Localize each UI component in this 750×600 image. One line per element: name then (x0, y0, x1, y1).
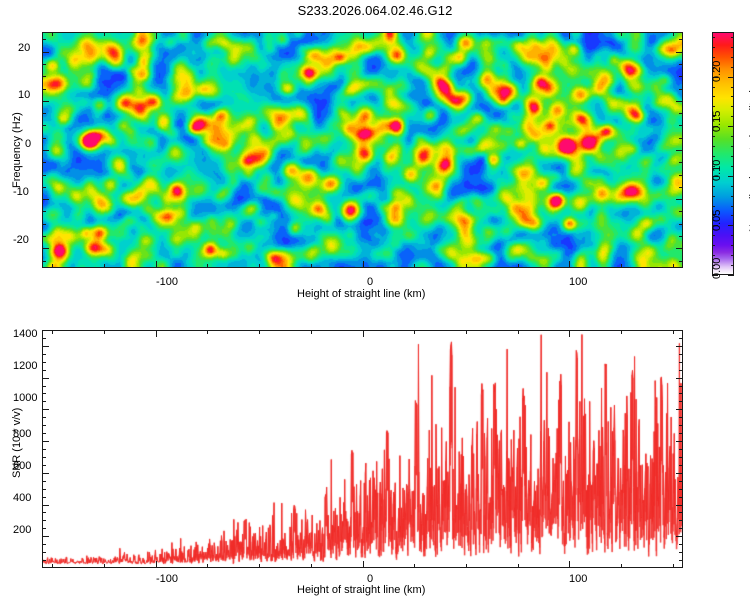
axis-tick (673, 264, 674, 268)
axis-tick (156, 32, 157, 39)
axis-tick (104, 330, 105, 334)
axis-tick (42, 489, 46, 490)
axis-tick (259, 264, 260, 268)
axis-tick (676, 346, 683, 347)
colorbar-tick-010: 0.10 (711, 160, 723, 181)
axis-tick (466, 264, 467, 268)
axis-tick (42, 187, 46, 188)
axis-tick (42, 362, 46, 363)
axis-tick (679, 125, 683, 126)
axis-tick (259, 564, 260, 568)
axis-tick (569, 330, 570, 337)
axis-tick (676, 536, 683, 537)
axis-tick (518, 264, 519, 268)
axis-tick (42, 401, 46, 402)
axis-tick (731, 96, 734, 97)
axis-tick (679, 489, 683, 490)
axis-tick (42, 417, 46, 418)
axis-tick (311, 264, 312, 268)
axis-tick (673, 32, 674, 36)
axis-tick (676, 52, 683, 53)
axis-tick (679, 39, 683, 40)
axis-tick (621, 330, 622, 334)
axis-tick (679, 393, 683, 394)
axis-tick (728, 225, 734, 226)
axis-tick (679, 544, 683, 545)
axis-tick (679, 433, 683, 434)
axis-tick (42, 39, 46, 40)
axis-tick (42, 236, 46, 237)
axis-tick (104, 564, 105, 568)
axis-tick (156, 330, 157, 337)
axis-tick (731, 47, 734, 48)
spectrogram-ytick-20: 20 (18, 42, 30, 54)
snr-xtick-neg100: -100 (156, 573, 178, 585)
axis-tick (42, 89, 46, 90)
axis-tick (731, 255, 734, 256)
axis-tick (676, 505, 683, 506)
axis-tick (731, 156, 734, 157)
axis-tick (712, 47, 715, 48)
axis-tick (42, 338, 46, 339)
axis-tick (518, 564, 519, 568)
axis-tick (679, 354, 683, 355)
axis-tick (42, 552, 46, 553)
axis-tick (679, 528, 683, 529)
axis-tick (518, 32, 519, 36)
axis-tick (731, 37, 734, 38)
axis-tick (259, 32, 260, 36)
snr-ytick-400: 400 (13, 492, 31, 504)
axis-tick (414, 32, 415, 36)
axis-tick (731, 265, 734, 266)
colorbar-tick-020: 0.20 (711, 61, 723, 82)
snr-ytick-200: 200 (13, 524, 31, 536)
axis-tick (731, 146, 734, 147)
axis-tick (42, 481, 46, 482)
axis-tick (712, 57, 715, 58)
axis-tick (42, 560, 46, 561)
axis-tick (712, 156, 715, 157)
axis-tick (363, 32, 364, 39)
axis-tick (679, 552, 683, 553)
snr-ytick-1000: 1000 (13, 392, 37, 404)
axis-tick (679, 224, 683, 225)
axis-tick (42, 346, 49, 347)
spectrogram-xtick-100: 100 (569, 276, 587, 288)
axis-tick (42, 512, 46, 513)
spectrogram-ytick-10: 10 (18, 89, 30, 101)
axis-tick (42, 76, 46, 77)
axis-tick (679, 187, 683, 188)
axis-tick (731, 166, 734, 167)
axis-tick (712, 245, 715, 246)
axis-tick (679, 89, 683, 90)
axis-tick (42, 505, 49, 506)
axis-tick (712, 106, 715, 107)
axis-tick (679, 261, 683, 262)
page-title: S233.2026.064.02.46.G12 (0, 3, 750, 18)
axis-tick (207, 264, 208, 268)
colorbar-tick-005: 0.05 (711, 210, 723, 231)
axis-tick (42, 528, 46, 529)
axis-tick (731, 215, 734, 216)
axis-tick (42, 113, 46, 114)
axis-tick (679, 162, 683, 163)
spectrogram-xtick-neg100: -100 (156, 276, 178, 288)
axis-tick (311, 564, 312, 568)
axis-tick (712, 87, 715, 88)
axis-tick (42, 261, 46, 262)
axis-tick (207, 564, 208, 568)
axis-tick (728, 77, 734, 78)
axis-tick (42, 64, 46, 65)
axis-tick (679, 449, 683, 450)
axis-tick (42, 248, 49, 249)
axis-tick (679, 175, 683, 176)
axis-tick (679, 425, 683, 426)
axis-tick (712, 146, 715, 147)
axis-tick (679, 236, 683, 237)
snr-plot-area (42, 330, 683, 568)
axis-tick (621, 32, 622, 36)
axis-tick (363, 261, 364, 268)
axis-tick (42, 386, 46, 387)
axis-tick (52, 264, 53, 268)
axis-tick (52, 330, 53, 334)
axis-tick (621, 564, 622, 568)
axis-tick (731, 136, 734, 137)
axis-tick (42, 520, 46, 521)
snr-xtick-100: 100 (569, 573, 587, 585)
axis-tick (156, 561, 157, 568)
axis-tick (42, 544, 46, 545)
axis-tick (569, 32, 570, 39)
axis-tick (42, 378, 49, 379)
axis-tick (104, 264, 105, 268)
axis-tick (42, 52, 49, 53)
axis-tick (42, 162, 46, 163)
axis-tick (679, 338, 683, 339)
axis-tick (42, 150, 49, 151)
axis-tick (414, 264, 415, 268)
axis-tick (207, 32, 208, 36)
axis-tick (466, 564, 467, 568)
axis-tick (731, 186, 734, 187)
axis-tick (42, 441, 49, 442)
axis-tick (679, 370, 683, 371)
snr-trace-canvas (43, 331, 682, 567)
axis-tick (679, 386, 683, 387)
axis-tick (42, 138, 46, 139)
axis-tick (52, 564, 53, 568)
axis-tick (673, 330, 674, 334)
axis-tick (731, 106, 734, 107)
spectrogram-ytick-0: 0 (25, 138, 31, 150)
spectrogram-xaxis-title: Height of straight line (km) (297, 288, 425, 300)
axis-tick (42, 449, 46, 450)
axis-tick (42, 175, 46, 176)
axis-tick (676, 473, 683, 474)
spectrogram-ytick-neg20: -20 (13, 234, 29, 246)
snr-ytick-1200: 1200 (13, 360, 37, 372)
axis-tick (679, 417, 683, 418)
axis-tick (679, 113, 683, 114)
axis-tick (712, 96, 715, 97)
axis-tick (712, 37, 715, 38)
axis-tick (52, 32, 53, 36)
axis-tick (728, 126, 734, 127)
axis-tick (156, 261, 157, 268)
axis-tick (42, 125, 46, 126)
spectrogram-yaxis-title: Frequency (Hz) (11, 112, 23, 188)
axis-tick (712, 186, 715, 187)
axis-tick (42, 101, 49, 102)
axis-tick (676, 441, 683, 442)
axis-tick (259, 330, 260, 334)
axis-tick (311, 330, 312, 334)
figure-root: S233.2026.064.02.46.G12 20 10 0 -10 -20 … (0, 0, 750, 600)
axis-tick (679, 401, 683, 402)
axis-tick (679, 497, 683, 498)
axis-tick (712, 255, 715, 256)
axis-tick (676, 150, 683, 151)
axis-tick (42, 536, 49, 537)
axis-tick (728, 176, 734, 177)
spectrogram-canvas (43, 33, 682, 267)
axis-tick (466, 330, 467, 334)
axis-tick (42, 211, 46, 212)
axis-tick (731, 67, 734, 68)
axis-tick (679, 362, 683, 363)
axis-tick (42, 393, 46, 394)
spectrogram-xtick-0: 0 (367, 276, 373, 288)
axis-tick (207, 330, 208, 334)
axis-tick (676, 378, 683, 379)
axis-tick (414, 564, 415, 568)
axis-tick (731, 116, 734, 117)
axis-tick (731, 206, 734, 207)
axis-tick (712, 206, 715, 207)
axis-tick (466, 32, 467, 36)
axis-tick (363, 561, 364, 568)
axis-tick (731, 57, 734, 58)
axis-tick (679, 520, 683, 521)
axis-tick (42, 457, 46, 458)
axis-tick (363, 330, 364, 337)
axis-tick (731, 235, 734, 236)
axis-tick (518, 330, 519, 334)
axis-tick (679, 457, 683, 458)
axis-tick (673, 564, 674, 568)
axis-tick (679, 138, 683, 139)
axis-tick (679, 211, 683, 212)
axis-tick (42, 370, 46, 371)
axis-tick (42, 409, 49, 410)
axis-tick (679, 560, 683, 561)
colorbar-tick-015: 0.15 (711, 111, 723, 132)
axis-tick (569, 561, 570, 568)
axis-tick (679, 481, 683, 482)
axis-tick (569, 261, 570, 268)
axis-tick (679, 64, 683, 65)
axis-tick (679, 465, 683, 466)
axis-tick (712, 196, 715, 197)
axis-tick (414, 330, 415, 334)
axis-tick (731, 245, 734, 246)
axis-tick (42, 354, 46, 355)
axis-tick (311, 32, 312, 36)
axis-tick (676, 409, 683, 410)
axis-tick (676, 101, 683, 102)
colorbar-tick-000: 0.00 (711, 258, 723, 279)
axis-tick (712, 136, 715, 137)
axis-tick (42, 473, 49, 474)
axis-tick (621, 264, 622, 268)
axis-tick (42, 497, 46, 498)
axis-tick (42, 433, 46, 434)
axis-tick (104, 32, 105, 36)
axis-tick (731, 87, 734, 88)
axis-tick (731, 196, 734, 197)
axis-tick (679, 76, 683, 77)
spectrogram-plot-area (42, 32, 683, 268)
axis-tick (42, 465, 46, 466)
axis-tick (42, 224, 46, 225)
axis-tick (42, 425, 46, 426)
snr-ytick-1400: 1400 (13, 328, 37, 340)
axis-tick (42, 199, 49, 200)
snr-xaxis-title: Height of straight line (km) (297, 584, 425, 596)
axis-tick (712, 235, 715, 236)
axis-tick (728, 275, 734, 276)
axis-tick (679, 512, 683, 513)
axis-tick (676, 248, 683, 249)
snr-yaxis-title: SNR (10 * v/v) (11, 408, 23, 478)
axis-tick (676, 199, 683, 200)
